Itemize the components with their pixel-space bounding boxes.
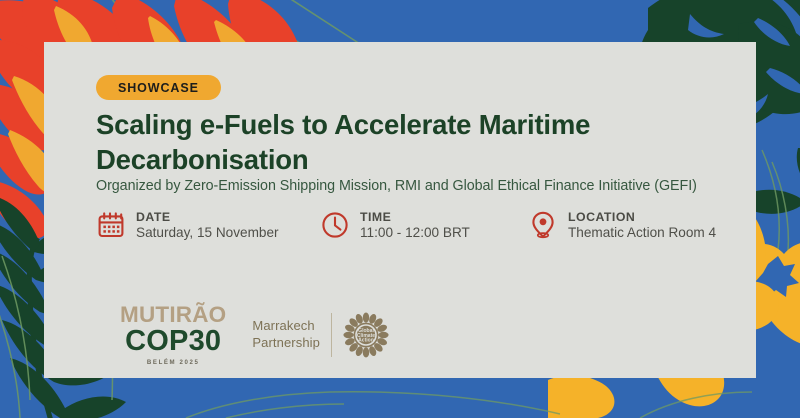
event-detail-value: Thematic Action Room 4 xyxy=(568,225,716,240)
marrakech-partnership-logo: Marrakech Partnership xyxy=(252,312,389,358)
event-detail-label: DATE xyxy=(136,210,279,224)
showcase-badge-label: SHOWCASE xyxy=(118,81,199,95)
content-card: SHOWCASE Scaling e-Fuels to Accelerate M… xyxy=(44,42,756,378)
organizers-subtitle: Organized by Zero-Emission Shipping Miss… xyxy=(96,178,746,194)
logo-strip: MUTIRÃO COP30 BELÉM 2025 Marrakech Partn… xyxy=(120,304,389,366)
event-detail-value: Saturday, 15 November xyxy=(136,225,279,240)
global-climate-action-icon: Global Climate Action xyxy=(343,312,389,358)
event-detail-date: DATE Saturday, 15 November xyxy=(96,210,279,240)
cop30-logo-belem: BELÉM 2025 xyxy=(147,360,200,366)
gca-line3: Action xyxy=(358,337,374,343)
event-detail-label: TIME xyxy=(360,210,470,224)
cop30-logo-cop30: COP30 xyxy=(125,327,221,356)
event-detail-location: LOCATION Thematic Action Room 4 xyxy=(528,210,716,240)
cop30-logo-mutirao: MUTIRÃO xyxy=(120,304,226,327)
calendar-icon xyxy=(96,210,126,240)
event-details: DATE Saturday, 15 November TIME 11:00 - … xyxy=(96,210,756,256)
cop30-logo: MUTIRÃO COP30 BELÉM 2025 xyxy=(120,304,226,367)
event-poster: SHOWCASE Scaling e-Fuels to Accelerate M… xyxy=(0,0,800,418)
marrakech-partnership-line2: Partnership xyxy=(252,335,320,350)
map-pin-icon xyxy=(528,210,558,240)
page-title: Scaling e-Fuels to Accelerate Maritime D… xyxy=(96,108,716,178)
clock-icon xyxy=(320,210,350,240)
event-detail-label: LOCATION xyxy=(568,210,716,224)
marrakech-partnership-line1: Marrakech xyxy=(252,318,314,333)
logo-divider xyxy=(331,313,332,357)
showcase-badge: SHOWCASE xyxy=(96,75,221,100)
event-detail-time: TIME 11:00 - 12:00 BRT xyxy=(320,210,470,240)
event-detail-value: 11:00 - 12:00 BRT xyxy=(360,225,470,240)
